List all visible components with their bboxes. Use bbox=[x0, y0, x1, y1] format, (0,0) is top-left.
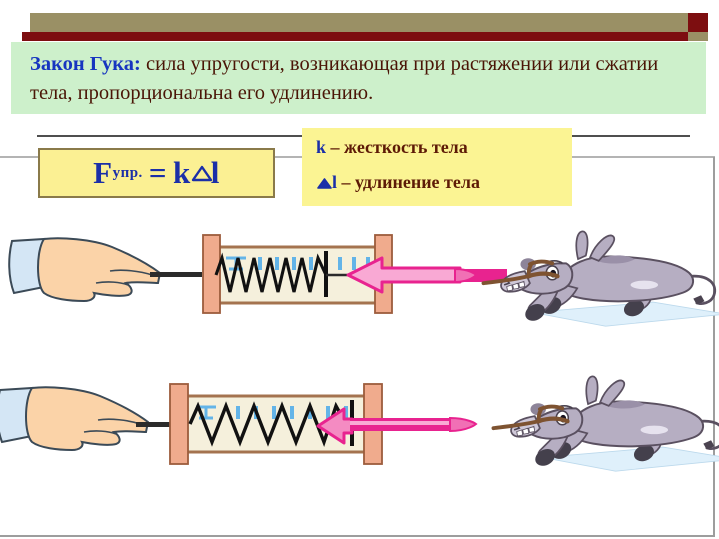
formula-force-subscript: упр. bbox=[113, 165, 143, 182]
legend-text-stiffness: жесткость тела bbox=[344, 137, 468, 157]
formula-expression: Fупр. = k l bbox=[40, 150, 273, 196]
donkey-pulling-right bbox=[483, 231, 719, 326]
legend-dash-2: – bbox=[337, 172, 355, 192]
illustration-small-extension bbox=[0, 225, 719, 345]
illustration-large-extension bbox=[0, 372, 719, 492]
pull-rod bbox=[150, 272, 202, 277]
statement-text: Закон Гука: сила упругости, возникающая … bbox=[30, 50, 690, 108]
formula-force-symbol: F bbox=[93, 155, 112, 191]
horizontal-rule-bottom bbox=[0, 535, 715, 537]
red-band-corner-square bbox=[688, 32, 708, 41]
force-rope bbox=[350, 418, 476, 431]
legend-card: k – жесткость тела l – удлинение тела bbox=[302, 128, 572, 206]
hand-pulling-left bbox=[9, 238, 160, 301]
device-post-left bbox=[170, 384, 188, 464]
legend-dash-1: – bbox=[326, 137, 344, 157]
formula-stiffness-symbol: k bbox=[173, 155, 191, 191]
legend-symbol-k: k bbox=[316, 137, 326, 157]
top-bar-corner-square bbox=[688, 13, 708, 32]
force-arrow-large bbox=[348, 258, 507, 292]
statement-lead-label: Закон Гука: bbox=[30, 53, 141, 75]
formula-card: Fупр. = k l bbox=[38, 148, 275, 198]
delta-triangle-icon-legend bbox=[316, 176, 332, 189]
top-red-band bbox=[22, 32, 688, 41]
legend-item-extension: l – удлинение тела bbox=[316, 172, 480, 193]
delta-triangle-icon bbox=[191, 165, 211, 181]
donkey-pulling-right bbox=[493, 376, 719, 471]
hooke-law-statement-box: Закон Гука: сила упругости, возникающая … bbox=[11, 42, 706, 114]
hand-pulling-left bbox=[0, 387, 148, 450]
top-decorative-bar bbox=[30, 13, 688, 32]
legend-text-extension: удлинение тела bbox=[355, 172, 480, 192]
legend-item-stiffness: k – жесткость тела bbox=[316, 137, 468, 158]
formula-equals-sign: = bbox=[149, 155, 167, 191]
